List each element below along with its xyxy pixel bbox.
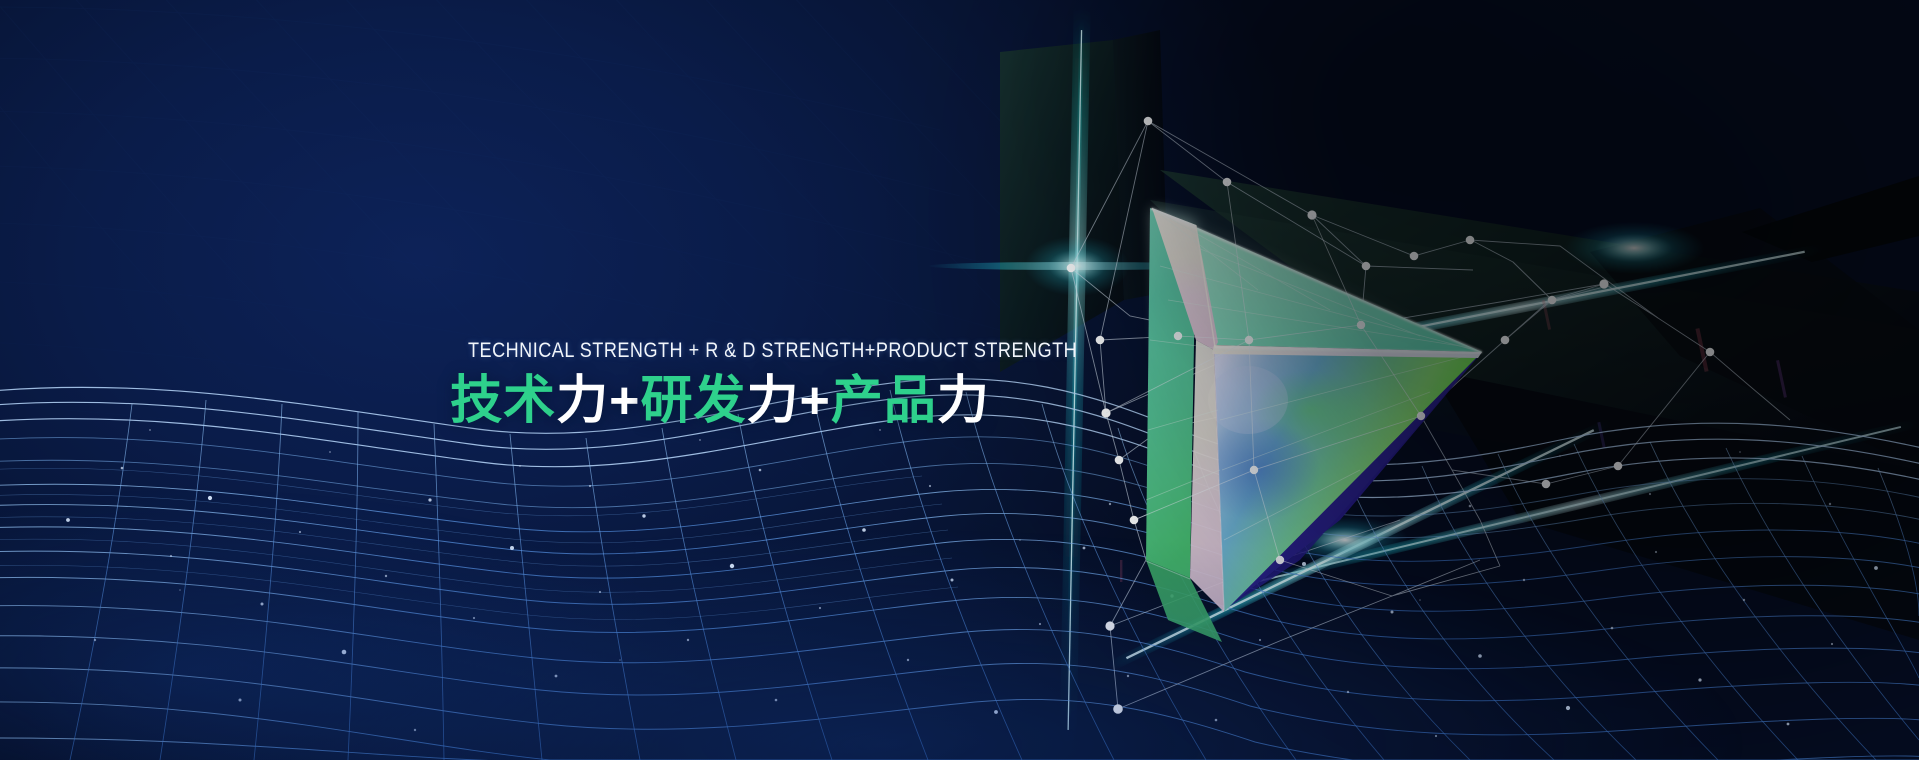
headline-plus-2: +: [800, 372, 831, 430]
headline-segment-1: 技术: [450, 372, 556, 430]
hero-banner: TECHNICAL STRENGTH + R & D STRENGTH+PROD…: [0, 0, 1919, 760]
headline-segment-6: 力: [937, 372, 990, 430]
headline-segment-5: 产品: [831, 372, 937, 430]
headline-segment-3: 研发: [640, 372, 746, 430]
page-title: 技术力+研发力+产品力: [420, 374, 1020, 428]
headline-block: TECHNICAL STRENGTH + R & D STRENGTH+PROD…: [420, 340, 1020, 428]
headline-segment-4: 力: [747, 372, 800, 430]
eyebrow-text: TECHNICAL STRENGTH + R & D STRENGTH+PROD…: [468, 340, 972, 362]
headline-plus-1: +: [609, 372, 640, 430]
headline-segment-2: 力: [556, 372, 609, 430]
